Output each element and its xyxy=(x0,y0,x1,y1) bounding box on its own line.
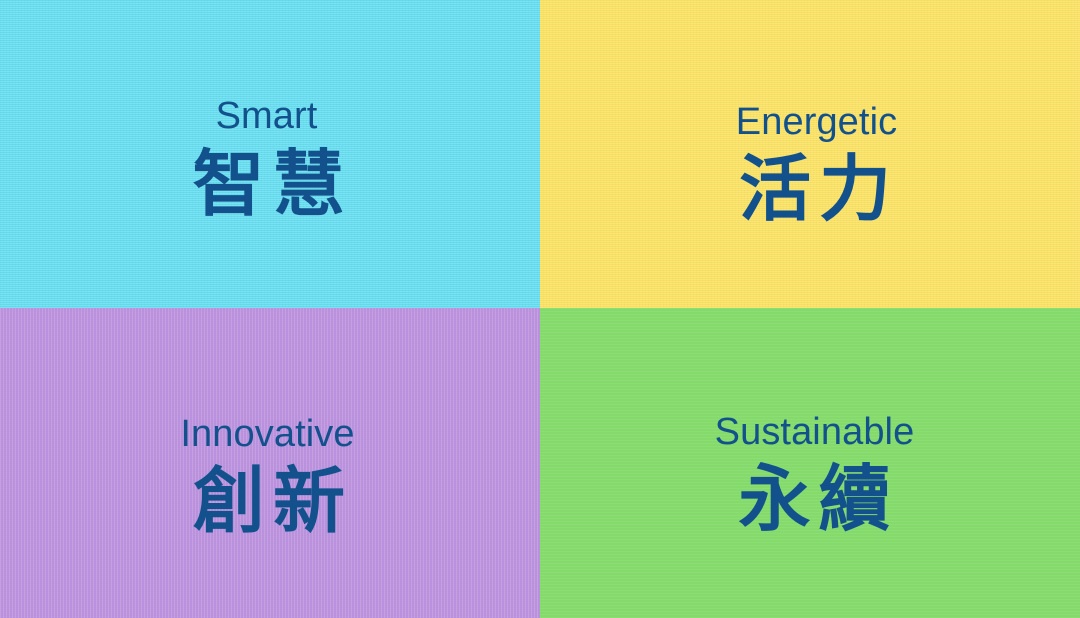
value-label-english-sustainable: Sustainable xyxy=(715,413,915,451)
value-label-chinese-smart: 智慧 xyxy=(184,149,352,221)
value-card-sustainable: Sustainable 永續 xyxy=(540,308,1080,618)
value-label-english-energetic: Energetic xyxy=(736,103,897,141)
value-label-english-innovative: Innovative xyxy=(180,415,354,453)
value-label-chinese-sustainable: 永續 xyxy=(730,464,898,536)
value-label-english-smart: Smart xyxy=(216,97,318,135)
value-card-innovative: Innovative 創新 xyxy=(0,308,540,618)
value-card-smart: Smart 智慧 xyxy=(0,0,540,308)
brand-values-poster: Smart 智慧 Energetic 活力 Innovative 創新 Sust… xyxy=(0,0,1080,618)
value-label-chinese-innovative: 創新 xyxy=(185,466,353,538)
value-card-energetic: Energetic 活力 xyxy=(540,0,1080,308)
values-grid: Smart 智慧 Energetic 活力 Innovative 創新 Sust… xyxy=(0,0,1080,618)
value-label-chinese-energetic: 活力 xyxy=(731,154,899,226)
